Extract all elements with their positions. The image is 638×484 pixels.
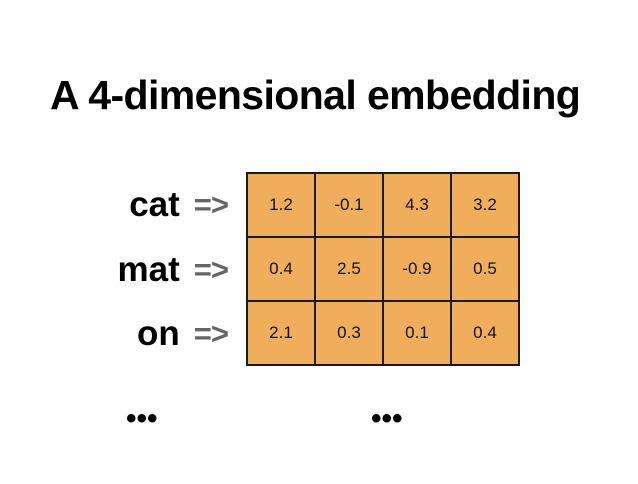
matrix-cell: -0.9 bbox=[383, 237, 451, 301]
arrow-icon-on: => bbox=[194, 318, 228, 349]
slide-canvas: A 4-dimensional embedding cat => mat => … bbox=[0, 0, 638, 484]
matrix-cell: 0.5 bbox=[451, 237, 519, 301]
matrix-cell: 2.1 bbox=[247, 301, 315, 365]
table-row: 2.1 0.3 0.1 0.4 bbox=[247, 301, 519, 365]
word-row-cat: cat => bbox=[30, 172, 234, 237]
table-row: 1.2 -0.1 4.3 3.2 bbox=[247, 173, 519, 237]
matrix-cell: 3.2 bbox=[451, 173, 519, 237]
matrix-cell: 2.5 bbox=[315, 237, 383, 301]
matrix-cell: 0.1 bbox=[383, 301, 451, 365]
word-label-cat: cat bbox=[129, 187, 180, 222]
arrow-icon-cat: => bbox=[194, 189, 228, 220]
table-row: 0.4 2.5 -0.9 0.5 bbox=[247, 237, 519, 301]
matrix-ellipsis: ••• bbox=[371, 404, 403, 434]
matrix-cell: -0.1 bbox=[315, 173, 383, 237]
word-label-column: cat => mat => on => bbox=[30, 172, 234, 366]
word-row-on: on => bbox=[30, 301, 234, 366]
embedding-matrix: 1.2 -0.1 4.3 3.2 0.4 2.5 -0.9 0.5 2.1 0.… bbox=[246, 172, 520, 366]
matrix-cell: 0.4 bbox=[247, 237, 315, 301]
word-list-ellipsis: ••• bbox=[126, 404, 158, 434]
arrow-icon-mat: => bbox=[194, 254, 228, 285]
word-label-mat: mat bbox=[118, 252, 180, 287]
page-title: A 4-dimensional embedding bbox=[50, 74, 606, 117]
matrix-cell: 4.3 bbox=[383, 173, 451, 237]
word-label-on: on bbox=[137, 316, 180, 351]
matrix-cell: 0.4 bbox=[451, 301, 519, 365]
matrix-cell: 0.3 bbox=[315, 301, 383, 365]
word-row-mat: mat => bbox=[30, 237, 234, 302]
matrix-cell: 1.2 bbox=[247, 173, 315, 237]
